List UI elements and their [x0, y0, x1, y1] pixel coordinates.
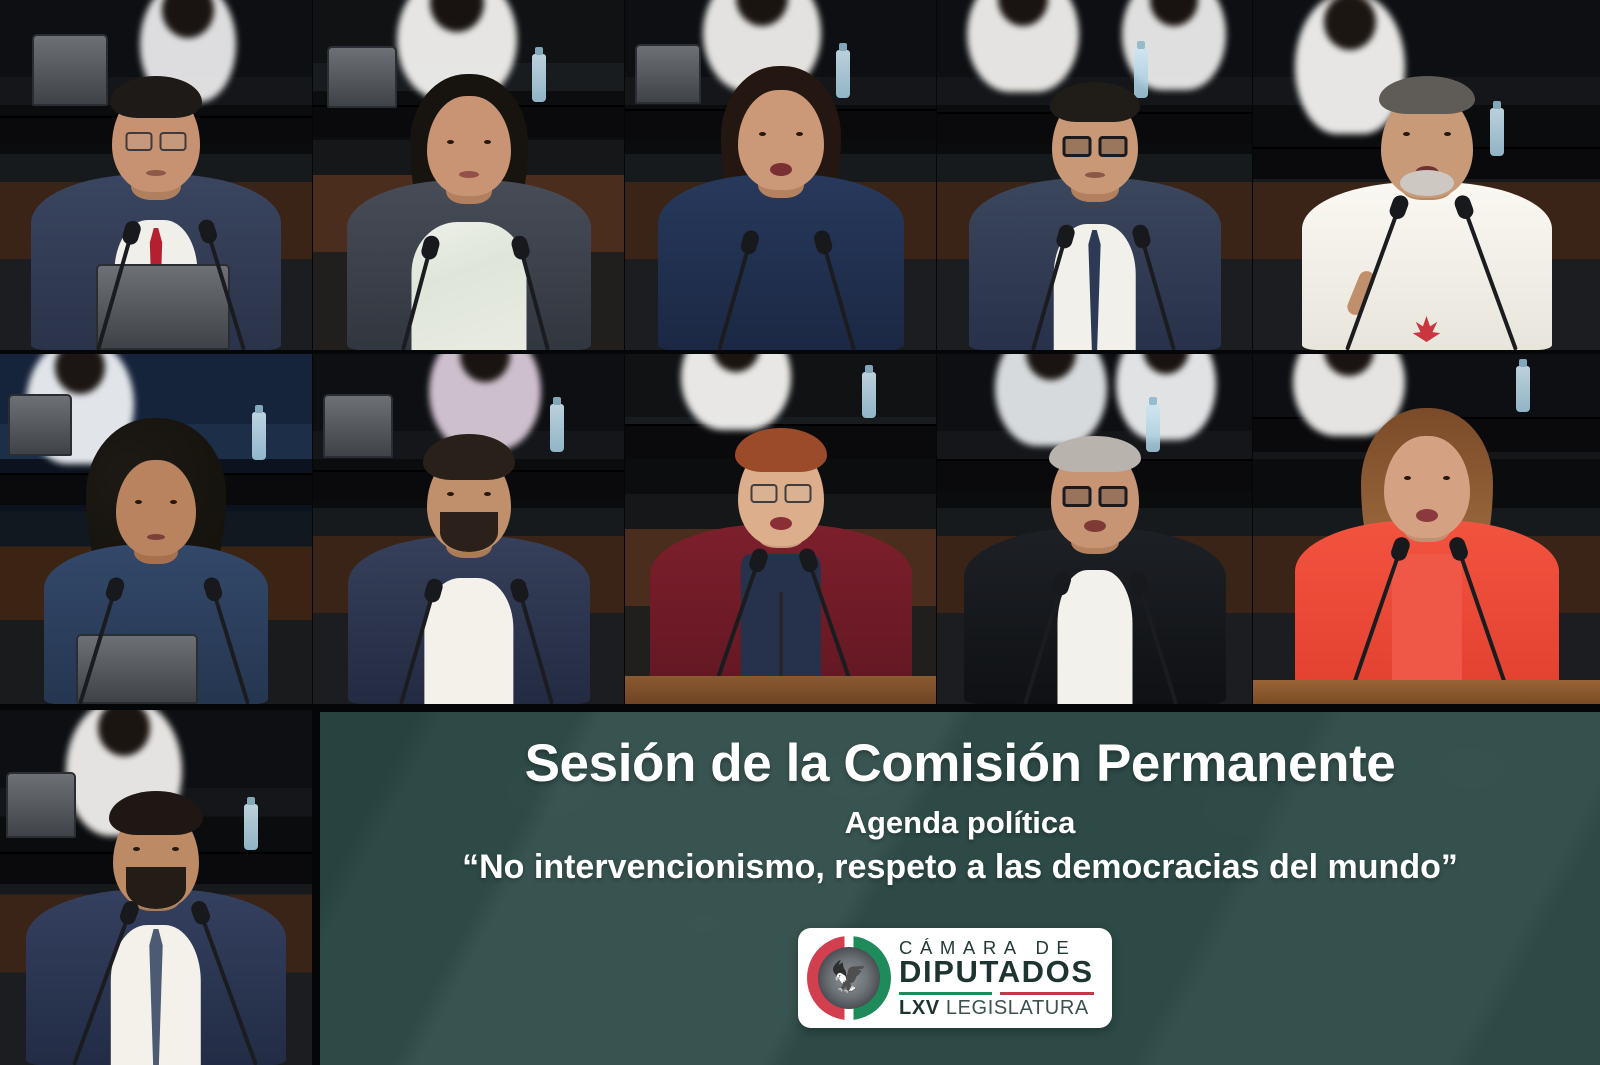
photo-cell-8 [625, 354, 936, 704]
head [738, 90, 824, 190]
speaker-figure [961, 462, 1229, 704]
speaker-figure [1292, 454, 1562, 704]
background-person-head [712, 354, 760, 372]
banner-quote: “No intervencionismo, respeto a las demo… [320, 850, 1600, 884]
photo-cell-9 [937, 354, 1252, 704]
photo-cell-7 [313, 354, 624, 704]
eye [170, 500, 177, 504]
background-person [995, 354, 1107, 446]
poster-canvas: Sesión de la Comisión Permanente Agenda … [0, 0, 1600, 1065]
head [116, 460, 196, 556]
background-person-head [430, 0, 484, 32]
speaker-figure [345, 466, 593, 704]
logo-line-diputados: DIPUTADOS [899, 956, 1094, 988]
eagle-seal: 🦅 [818, 947, 880, 1009]
eye [1404, 476, 1411, 480]
photo-cell-4 [937, 0, 1252, 350]
photo-cell-6 [0, 354, 312, 704]
photo-cell-1 [0, 0, 312, 350]
mouth [459, 171, 479, 178]
beard [1400, 170, 1454, 196]
logo-legislature-word: LEGISLATURA [946, 997, 1089, 1019]
logo-rule [899, 992, 1094, 995]
glasses-icon [1062, 136, 1127, 157]
podium [625, 676, 936, 704]
shirt [1057, 570, 1132, 704]
head [427, 96, 511, 196]
speaker-figure [656, 100, 906, 350]
laptop-icon [32, 34, 108, 106]
background-person-head [460, 354, 510, 382]
camara-de-diputados-logo[interactable]: 🦅 CÁMARA DE DIPUTADOS LXV LEGISLATURA [798, 928, 1112, 1028]
laptop-icon [6, 772, 76, 838]
mouth [1416, 509, 1438, 522]
background-person-head [736, 0, 788, 26]
laptop-icon [327, 46, 397, 108]
photo-cell-5 [1253, 0, 1600, 350]
water-bottle-icon [1134, 48, 1148, 98]
eye [484, 140, 491, 144]
suit-torso [658, 174, 904, 350]
eye [172, 847, 179, 851]
tablet-icon [76, 634, 198, 704]
background-person-head [1143, 354, 1189, 374]
background-person-head [1324, 354, 1374, 376]
eye [759, 132, 766, 136]
mouth [1085, 172, 1105, 178]
background-person [1116, 354, 1216, 440]
glasses-icon [750, 484, 811, 503]
eye [1443, 476, 1450, 480]
speaker-figure [344, 110, 594, 350]
eye [447, 492, 454, 496]
water-bottle-icon [836, 50, 850, 98]
speaker-figure [647, 468, 915, 704]
mouth [147, 534, 165, 540]
background-person [967, 0, 1079, 92]
photo-cell-2 [313, 0, 624, 350]
background-person [681, 354, 791, 430]
glasses-icon [126, 132, 187, 151]
water-bottle-icon [862, 372, 876, 418]
laptop-icon [8, 394, 72, 456]
head [1384, 436, 1470, 538]
hair [1049, 436, 1141, 472]
background-person-head [1026, 354, 1076, 380]
speaker-figure [1299, 126, 1555, 350]
eye [796, 132, 803, 136]
banner-subtitle: Agenda política [320, 807, 1600, 838]
mouth [1084, 520, 1106, 532]
eye [1403, 132, 1410, 136]
mouth [146, 170, 166, 176]
background-person-head [998, 0, 1048, 26]
background-person-head [1324, 0, 1376, 50]
eye [133, 847, 140, 851]
water-bottle-icon [1146, 404, 1160, 452]
background-person-head [1150, 0, 1198, 26]
water-bottle-icon [252, 412, 266, 460]
mouth [770, 517, 792, 530]
photo-cell-3 [625, 0, 936, 350]
beard [440, 512, 498, 552]
logo-legislature-roman: LXV [899, 997, 940, 1019]
speaker-figure [966, 104, 1224, 350]
logo-legislature: LXV LEGISLATURA [899, 998, 1094, 1018]
background-person-head [162, 0, 214, 38]
logo-text: CÁMARA DE DIPUTADOS LXV LEGISLATURA [891, 938, 1104, 1018]
laptop-icon [635, 44, 701, 104]
speaker-figure [23, 837, 289, 1065]
background-person-head [98, 710, 150, 756]
water-bottle-icon [532, 54, 546, 102]
eye [447, 140, 454, 144]
eye [1444, 132, 1451, 136]
laptop-icon [323, 394, 393, 458]
water-bottle-icon [550, 404, 564, 452]
banner-title: Sesión de la Comisión Permanente [320, 737, 1600, 790]
title-banner: Sesión de la Comisión Permanente Agenda … [320, 712, 1600, 1065]
mouth [770, 163, 792, 176]
mexican-coat-of-arms-icon: 🦅 [807, 936, 891, 1020]
eye [135, 500, 142, 504]
background-person-head [55, 354, 105, 394]
podium [1253, 680, 1600, 704]
water-bottle-icon [1516, 366, 1530, 412]
photo-cell-11 [0, 710, 312, 1065]
photo-cell-10 [1253, 354, 1600, 704]
eye [484, 492, 491, 496]
glasses-icon [1062, 486, 1127, 507]
